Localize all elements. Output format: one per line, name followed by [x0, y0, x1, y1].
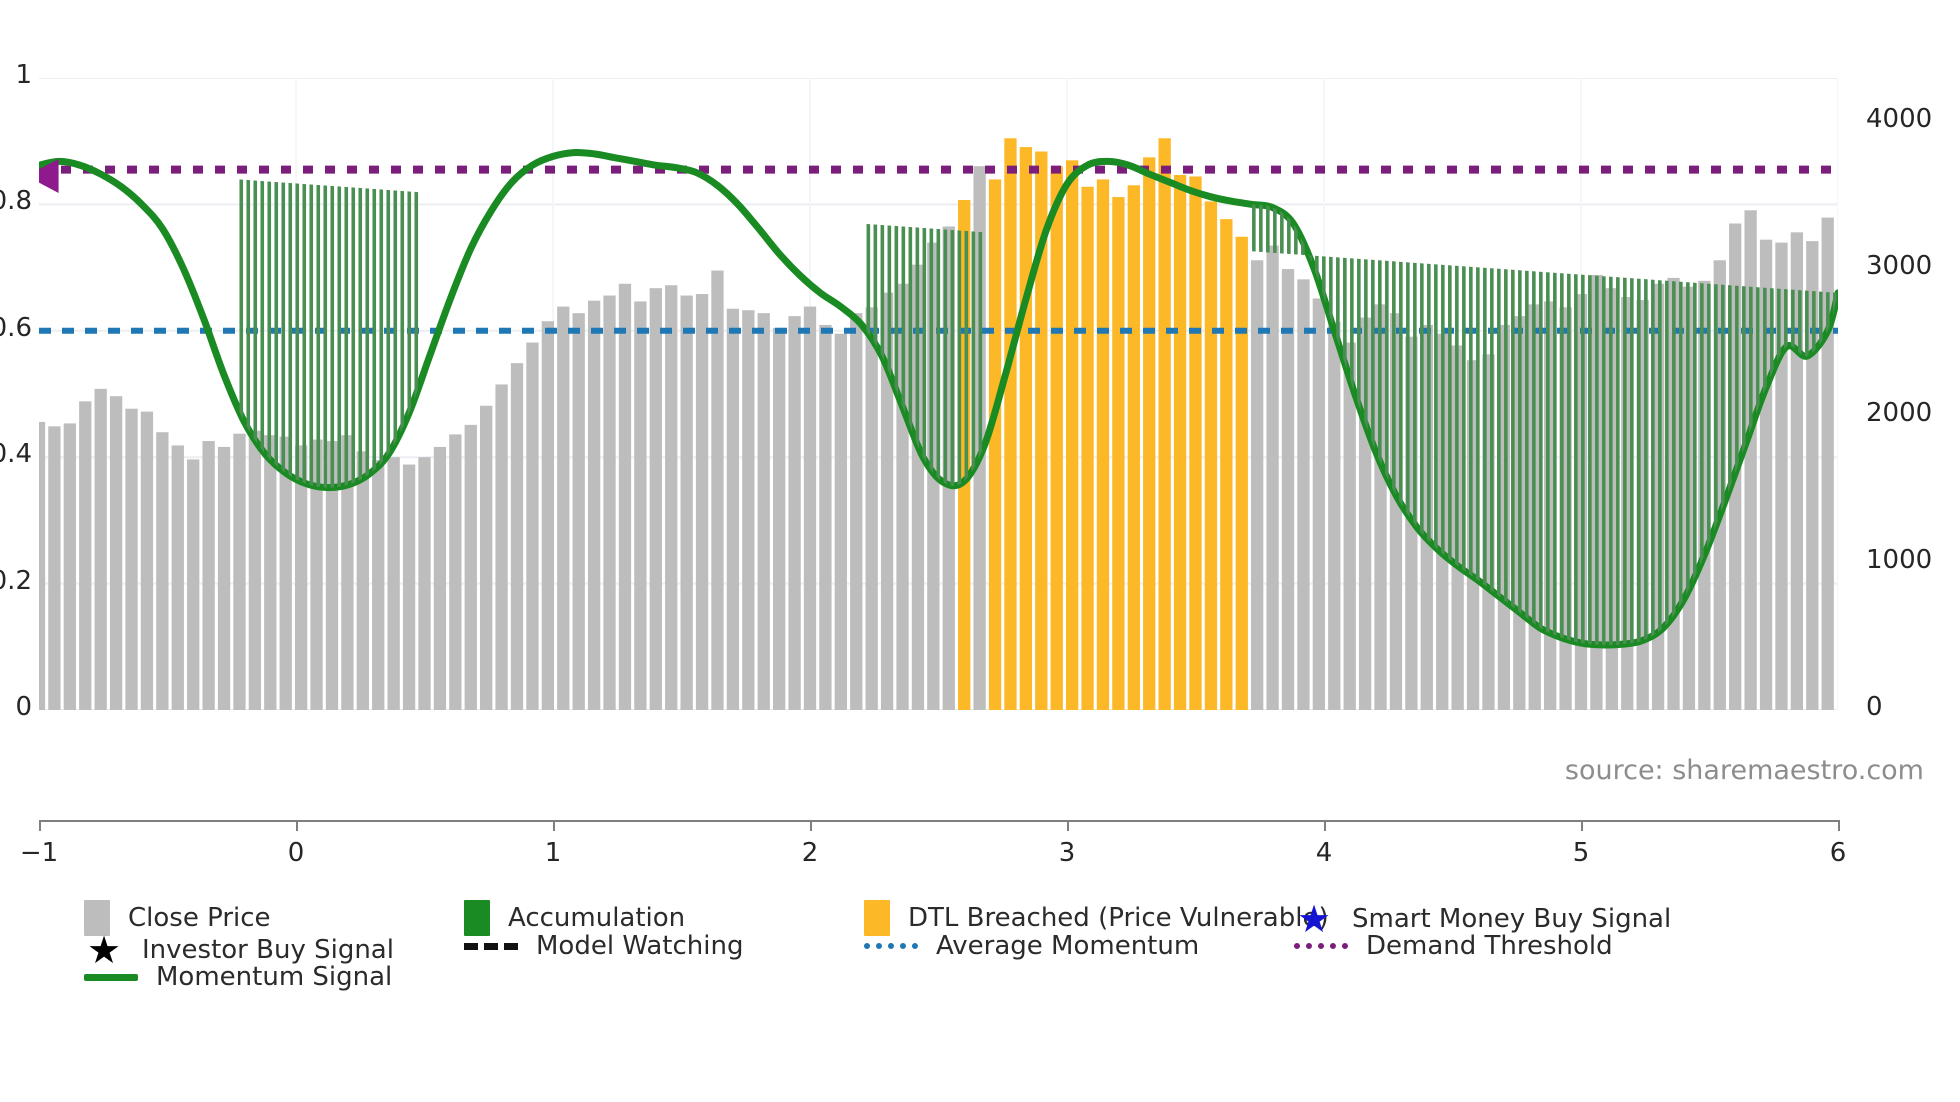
x-axis-tick-mark	[1324, 820, 1326, 831]
bar-dtl-breached	[989, 179, 1001, 710]
chart-legend: Close PriceAccumulationDTL Breached (Pri…	[0, 900, 1960, 1100]
bar-close-price	[1297, 279, 1309, 710]
y-axis-right-tick: 3000	[1866, 251, 1932, 281]
bar-dtl-breached	[1097, 179, 1109, 710]
bar-dtl-breached	[1020, 147, 1032, 710]
legend-label: Accumulation	[508, 903, 685, 933]
legend-label: Smart Money Buy Signal	[1352, 904, 1671, 934]
dotted-line-swatch-icon	[1294, 943, 1348, 949]
y-axis-left-tick: 0.4	[0, 439, 32, 469]
legend-average-momentum[interactable]: Average Momentum	[864, 931, 1199, 961]
x-axis-tick-label: 1	[545, 838, 562, 868]
bar-close-price	[64, 423, 76, 710]
bar-close-price	[264, 435, 276, 710]
bar-close-price	[742, 310, 754, 710]
bar-close-price	[526, 343, 538, 710]
bar-dtl-breached	[1189, 176, 1201, 710]
accumulation-marker	[1616, 78, 1620, 710]
accumulation-marker	[1546, 78, 1550, 710]
bar-close-price	[758, 313, 770, 710]
chart-area: 00.20.40.60.81 01000200030004000 −101234…	[0, 0, 1960, 830]
bar-dtl-breached	[1174, 175, 1186, 710]
bar-dtl-breached	[1128, 185, 1140, 710]
y-axis-left-tick: 0.8	[0, 186, 32, 216]
x-axis-tick-mark	[810, 820, 812, 831]
bar-close-price	[79, 401, 91, 710]
accumulation-marker	[1658, 78, 1662, 710]
bar-close-price	[634, 301, 646, 710]
bar-close-price	[804, 307, 816, 710]
plot-canvas	[39, 78, 1838, 710]
bar-close-price	[388, 457, 400, 710]
bar-close-price	[141, 412, 153, 710]
x-axis-tick-mark	[1581, 820, 1583, 831]
bar-close-price	[773, 328, 785, 710]
bar-close-price	[434, 447, 446, 710]
bar-close-price	[372, 460, 384, 710]
bar-close-price	[156, 432, 168, 710]
bar-close-price	[172, 445, 184, 710]
source-note: source: sharemaestro.com	[1565, 755, 1924, 786]
x-axis-tick-mark	[1067, 820, 1069, 831]
bar-close-price	[449, 434, 461, 710]
bar-close-price	[650, 288, 662, 710]
accumulation-marker	[1567, 78, 1571, 710]
x-axis-line	[39, 820, 1838, 822]
bar-dtl-breached	[1236, 237, 1248, 710]
x-axis-tick-mark	[39, 820, 41, 831]
dotted-line-swatch-icon	[864, 943, 918, 949]
legend-momentum-signal[interactable]: Momentum Signal	[84, 962, 392, 992]
bar-close-price	[788, 316, 800, 710]
bar-close-price	[48, 426, 60, 710]
x-axis-tick-label: 0	[288, 838, 305, 868]
y-axis-right-tick: 0	[1866, 692, 1883, 722]
y-axis-left-tick: 1	[0, 60, 32, 90]
legend-model-watching[interactable]: Model Watching	[464, 931, 743, 961]
bar-close-price	[1822, 218, 1834, 710]
accumulation-marker	[1637, 78, 1641, 710]
accumulation-marker	[909, 78, 913, 710]
bar-dtl-breached	[1112, 197, 1124, 710]
bar-close-price	[680, 296, 692, 710]
bar-dtl-breached	[1220, 219, 1232, 710]
x-axis-tick-mark	[296, 820, 298, 831]
legend-row: Momentum Signal	[84, 962, 1954, 1001]
x-axis-tick-label: 2	[802, 838, 819, 868]
y-axis-right-tick: 2000	[1866, 398, 1932, 428]
x-axis-tick-label: 3	[1059, 838, 1076, 868]
legend-label: Close Price	[128, 903, 271, 933]
bar-close-price	[495, 384, 507, 710]
bar-close-price	[850, 313, 862, 710]
bar-close-price	[1266, 246, 1278, 710]
bar-dtl-breached	[1066, 160, 1078, 710]
bar-close-price	[218, 447, 230, 710]
bar-close-price	[1251, 260, 1263, 710]
legend-label: Investor Buy Signal	[142, 935, 394, 965]
y-axis-left-tick: 0	[0, 692, 32, 722]
bar-close-price	[403, 465, 415, 710]
x-axis-tick-label: 5	[1573, 838, 1590, 868]
bar-close-price	[866, 307, 878, 710]
accumulation-marker	[1371, 78, 1375, 710]
accumulation-marker	[1525, 78, 1529, 710]
bar-close-price	[1313, 298, 1325, 710]
bar-close-price	[573, 313, 585, 710]
bar-close-price	[557, 307, 569, 710]
legend-label: Average Momentum	[936, 931, 1199, 961]
bar-dtl-breached	[1143, 157, 1155, 710]
y-axis-left-tick: 0.2	[0, 566, 32, 596]
legend-label: Momentum Signal	[156, 962, 392, 992]
line-swatch-icon	[84, 974, 138, 981]
bar-close-price	[125, 409, 137, 710]
accumulation-marker	[1595, 78, 1599, 710]
bar-close-price	[619, 284, 631, 710]
bar-close-price	[480, 406, 492, 710]
x-axis-tick-label: 4	[1316, 838, 1333, 868]
y-axis-right-tick: 4000	[1866, 104, 1932, 134]
bar-close-price	[511, 363, 523, 710]
bar-close-price	[465, 425, 477, 710]
bar-close-price	[357, 451, 369, 710]
legend-demand-threshold[interactable]: Demand Threshold	[1294, 931, 1613, 961]
bar-close-price	[588, 301, 600, 710]
bar-close-price	[1328, 322, 1340, 710]
x-axis-tick-label: 6	[1830, 838, 1847, 868]
bar-close-price	[110, 396, 122, 710]
accumulation-marker	[1574, 78, 1578, 710]
bar-close-price	[1282, 269, 1294, 710]
legend-label: Demand Threshold	[1366, 931, 1613, 961]
bar-close-price	[95, 389, 107, 710]
bar-close-price	[711, 271, 723, 710]
bar-close-price	[727, 309, 739, 710]
bar-close-price	[819, 325, 831, 710]
bar-close-price	[39, 422, 45, 710]
bar-close-price	[233, 434, 245, 710]
bar-close-price	[696, 294, 708, 710]
bar-close-price	[542, 321, 554, 710]
bar-close-price	[835, 334, 847, 710]
plot-svg	[39, 78, 1838, 710]
accumulation-marker	[1553, 78, 1557, 710]
bar-close-price	[1744, 210, 1756, 710]
y-axis-right-tick: 1000	[1866, 545, 1932, 575]
bar-close-price	[418, 457, 430, 710]
bar-dtl-breached	[1081, 187, 1093, 710]
x-axis-tick-mark	[553, 820, 555, 831]
legend-label: DTL Breached (Price Vulnerable)	[908, 903, 1329, 933]
y-axis-left-tick: 0.6	[0, 313, 32, 343]
legend-label: Model Watching	[536, 931, 743, 961]
bar-close-price	[665, 285, 677, 710]
x-axis-tick-mark	[1838, 820, 1840, 831]
bar-close-price	[249, 431, 261, 710]
bar-dtl-breached	[1004, 138, 1016, 710]
bar-close-price	[603, 296, 615, 710]
dashed-line-swatch-icon	[464, 943, 518, 950]
bar-close-price	[187, 459, 199, 710]
bar-dtl-breached	[1159, 138, 1171, 710]
bar-dtl-breached	[1051, 166, 1063, 710]
bar-dtl-breached	[1205, 201, 1217, 710]
bar-close-price	[202, 441, 214, 710]
x-axis-tick-label: −1	[20, 838, 58, 868]
